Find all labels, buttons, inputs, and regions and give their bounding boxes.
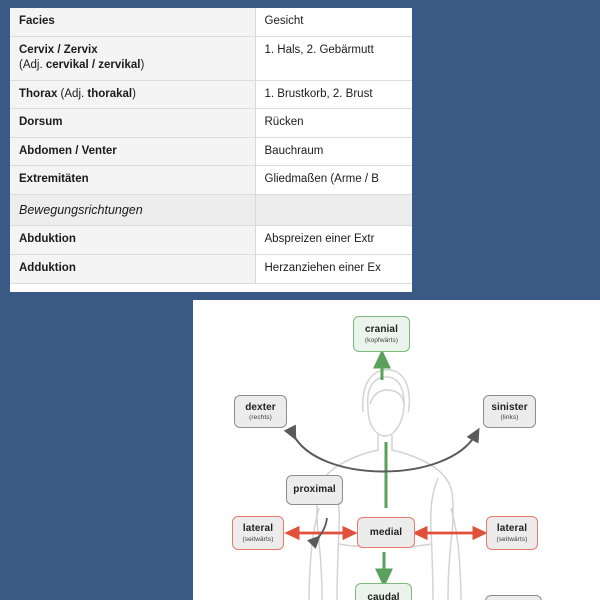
term-text: Facies [19, 15, 55, 27]
definition-text: Bauchraum [265, 145, 324, 157]
label-proximal[interactable]: proximal [286, 475, 343, 505]
definition-text: Rücken [265, 116, 304, 128]
table-cell-term: Facies [10, 8, 255, 36]
table-cell-definition: Bauchraum [255, 137, 412, 166]
term-adjective: (Adj. cervikal / zervikal) [19, 58, 246, 74]
table-row: Cervix / Zervix (Adj. cervikal / zervika… [10, 36, 412, 80]
definition-text: Gesicht [265, 15, 304, 27]
label-proximal-term: proximal [293, 484, 335, 496]
label-lateral-left-german: (seitwärts) [242, 536, 273, 543]
table-section-header: Bewegungsrichtungen [10, 194, 412, 226]
term-text: Thorax [19, 88, 57, 100]
label-dexter-german: (rechts) [249, 414, 272, 421]
term-text: Extremitäten [19, 173, 89, 185]
label-cranial-term: cranial [365, 324, 398, 336]
table-cell-term: Dorsum [10, 109, 255, 138]
definition-text: Gliedmaßen (Arme / B [265, 173, 379, 185]
label-sinister-term: sinister [491, 402, 527, 414]
label-medial[interactable]: medial [357, 517, 415, 548]
term-text: Adduktion [19, 262, 76, 274]
label-cranial[interactable]: cranial (kopfwärts) [353, 316, 410, 352]
label-medial-term: medial [370, 527, 402, 539]
label-caudal-term: caudal [367, 592, 399, 600]
table-cell-term: Abdomen / Venter [10, 137, 255, 166]
table-cell-term: Thorax (Adj. thorakal) [10, 80, 255, 109]
definition-text: Herzanziehen einer Ex [265, 262, 381, 274]
table-cell-term: Extremitäten [10, 166, 255, 195]
definition-text: 1. Brustkorb, 2. Brust [265, 88, 373, 100]
diagram-graphics [198, 312, 595, 600]
section-header-text: Bewegungsrichtungen [10, 194, 255, 226]
label-caudal[interactable]: caudal [355, 583, 412, 600]
terminology-table-panel: Facies Gesicht Cervix / Zervix (Adj. cer… [10, 8, 412, 292]
label-lateral-left-term: lateral [243, 523, 273, 535]
label-distal-partial[interactable] [485, 595, 542, 600]
term-text: Abdomen / Venter [19, 145, 117, 157]
table-row: Thorax (Adj. thorakal) 1. Brustkorb, 2. … [10, 80, 412, 109]
definition-text: 1. Hals, 2. Gebärmutt [265, 44, 374, 56]
table-cell-definition: Herzanziehen einer Ex [255, 255, 412, 284]
table-cell-definition: Rücken [255, 109, 412, 138]
table-row: Abduktion Abspreizen einer Extr [10, 226, 412, 255]
diagram-canvas: cranial (kopfwärts) dexter (rechts) sini… [198, 312, 595, 600]
label-cranial-german: (kopfwärts) [365, 337, 398, 344]
table-cell-term: Adduktion [10, 255, 255, 284]
term-text: Cervix / Zervix [19, 44, 98, 56]
table-cell-term: Abduktion [10, 226, 255, 255]
table-cell-definition: Abspreizen einer Extr [255, 226, 412, 255]
terminology-table: Facies Gesicht Cervix / Zervix (Adj. cer… [10, 8, 412, 284]
label-sinister-german: (links) [500, 414, 518, 421]
term-text: Abduktion [19, 233, 76, 245]
label-dexter[interactable]: dexter (rechts) [234, 395, 287, 428]
table-cell-term: Cervix / Zervix (Adj. cervikal / zervika… [10, 36, 255, 80]
anatomical-directions-diagram-panel: cranial (kopfwärts) dexter (rechts) sini… [193, 300, 600, 600]
term-adjective: (Adj. thorakal) [61, 88, 136, 100]
term-text: Dorsum [19, 116, 62, 128]
section-header-spacer [255, 194, 412, 226]
definition-text: Abspreizen einer Extr [265, 233, 375, 245]
table-row: Adduktion Herzanziehen einer Ex [10, 255, 412, 284]
label-dexter-term: dexter [245, 402, 276, 414]
label-sinister[interactable]: sinister (links) [483, 395, 536, 428]
table-cell-definition: 1. Brustkorb, 2. Brust [255, 80, 412, 109]
label-lateral-right-german: (seitwärts) [496, 536, 527, 543]
table-row: Dorsum Rücken [10, 109, 412, 138]
table-row: Extremitäten Gliedmaßen (Arme / B [10, 166, 412, 195]
label-lateral-right[interactable]: lateral (seitwärts) [486, 516, 538, 550]
table-cell-definition: Gliedmaßen (Arme / B [255, 166, 412, 195]
table-cell-definition: 1. Hals, 2. Gebärmutt [255, 36, 412, 80]
table-row: Facies Gesicht [10, 8, 412, 36]
label-lateral-right-term: lateral [497, 523, 527, 535]
table-cell-definition: Gesicht [255, 8, 412, 36]
label-lateral-left[interactable]: lateral (seitwärts) [232, 516, 284, 550]
table-row: Abdomen / Venter Bauchraum [10, 137, 412, 166]
